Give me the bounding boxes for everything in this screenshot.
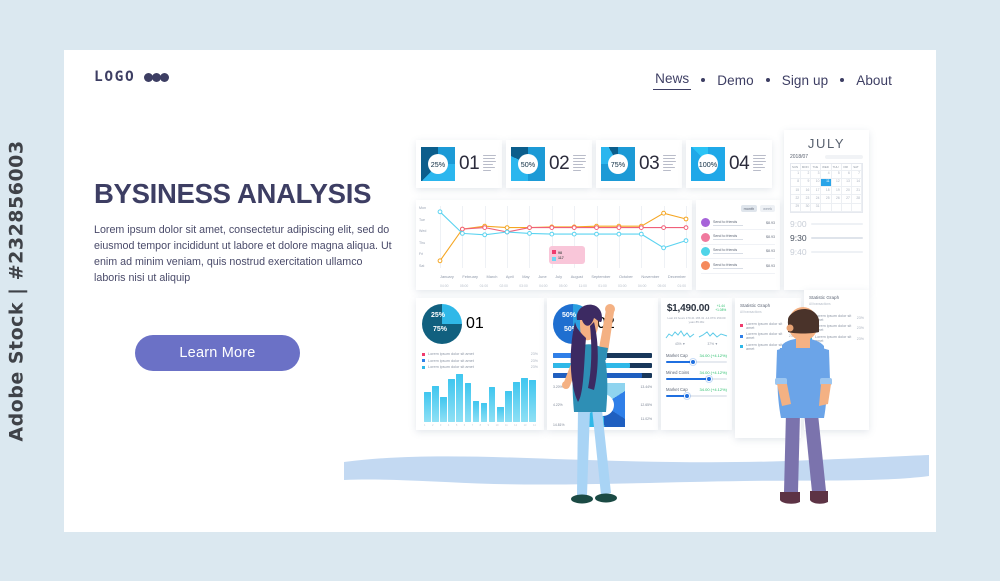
calendar-day[interactable]: 4: [821, 171, 831, 179]
calendar-day[interactable]: 1: [791, 171, 801, 179]
legend-value: 23%: [857, 337, 864, 341]
kpi-placeholder-text: [483, 155, 497, 173]
pie-slice-label: 25%: [431, 312, 445, 319]
calendar-day[interactable]: 31: [811, 204, 821, 212]
calendar-day[interactable]: 27: [842, 195, 852, 203]
kpi-number: 02: [549, 153, 569, 175]
list-item-text: Send to friends: [713, 220, 763, 226]
list-item-amount: $8.93: [766, 249, 775, 253]
tooltip-value-2: 117: [558, 256, 564, 260]
calendar-day[interactable]: 29: [791, 204, 801, 212]
bar: [465, 383, 472, 422]
x-tick: August: [571, 274, 583, 279]
x-subtick: 04:00: [638, 284, 647, 288]
donut-label: 13.44%: [641, 385, 653, 389]
bar: [448, 379, 455, 422]
line-chart-y-axis: Mon Tue Wed Thu Fri Sat: [419, 206, 439, 268]
calendar-day[interactable]: 8: [791, 179, 801, 187]
kpi-number: 03: [639, 153, 659, 175]
price-change-pct: +1.08%: [715, 308, 726, 312]
sparklines: 43% ▼ 37% ▼: [666, 329, 727, 346]
kpi-card-03[interactable]: 75% 03: [596, 140, 682, 188]
y-tick: Thu: [419, 241, 439, 245]
donut-label: 12.65%: [641, 403, 653, 407]
x-subtick: 01:00: [598, 284, 607, 288]
kpi-percent-label: 100%: [699, 160, 717, 169]
sparkline-2: 37% ▼: [699, 329, 728, 346]
slider-value: 34.00 (+4.12%): [700, 353, 727, 358]
x-tick: September: [591, 274, 610, 279]
x-subtick: 11:00: [579, 284, 587, 288]
bar-tick: 3: [440, 424, 441, 427]
calendar-day[interactable]: 24: [811, 195, 821, 203]
tab-week[interactable]: week: [760, 205, 775, 212]
bar-tick: 4: [448, 424, 449, 427]
x-tick: March: [487, 274, 498, 279]
bar: [440, 397, 447, 422]
bar: [505, 391, 512, 422]
agenda-row[interactable]: 9:30: [790, 233, 863, 243]
list-tabs: month week: [701, 205, 775, 212]
x-tick: April: [506, 274, 514, 279]
legend-label: Lorem ipsum dolor sit amet: [428, 352, 528, 356]
x-tick: November: [641, 274, 659, 279]
calendar-day[interactable]: 28: [852, 195, 862, 203]
person-woman: [544, 290, 634, 525]
logo[interactable]: LOGO: [94, 69, 169, 85]
price-change: +1.44 +1.08%: [715, 304, 726, 312]
list-item-text: Send to friends: [713, 263, 763, 269]
line-chart-card[interactable]: Mon Tue Wed Thu Fri Sat JanuaryFebruaryM…: [416, 200, 692, 290]
calendar-day[interactable]: [852, 204, 862, 212]
kpi-card-01[interactable]: 25% 01: [416, 140, 502, 188]
calendar-day[interactable]: 23: [801, 195, 811, 203]
list-item-text: Send to friends: [713, 248, 763, 254]
bar-chart: [424, 374, 536, 422]
hero-body-text: Lorem ipsum dolor sit amet, consectetur …: [94, 222, 394, 286]
bar: [529, 380, 536, 422]
bar-chart-axis: 1234567891011121314: [424, 424, 536, 427]
bar: [424, 392, 431, 422]
site-header: LOGO News Demo Sign up About: [64, 50, 936, 112]
donut-chart-100: 100%: [691, 147, 725, 181]
pie-slice-label: 75%: [433, 326, 447, 333]
calendar-agenda: 9:00 9:30 9:40: [790, 219, 863, 257]
slider-value: 34.00 (+4.12%): [700, 387, 727, 392]
avatar: [701, 247, 710, 256]
calendar-day[interactable]: [832, 204, 842, 212]
list-item-amount: $8.93: [766, 264, 775, 268]
list-item-title: Send to friends: [713, 220, 763, 224]
calendar-day[interactable]: 25: [821, 195, 831, 203]
calendar-day[interactable]: [821, 204, 831, 212]
nav-item-signup[interactable]: Sign up: [780, 72, 831, 89]
price-subtitle: Last 24 hours 170.41 165.31 -14.07% 150.…: [666, 316, 727, 324]
bar: [513, 382, 520, 422]
kpi-percent-label: 50%: [521, 160, 535, 169]
logo-dots-icon: [144, 73, 169, 82]
calendar-day[interactable]: 26: [832, 195, 842, 203]
line-chart-x-subaxis: 04:0005:0001:0002:0003:0004:0005:0011:00…: [440, 284, 686, 288]
main-nav: News Demo Sign up About: [653, 70, 894, 90]
x-tick: January: [440, 274, 454, 279]
sparkline-1: 43% ▼: [666, 329, 695, 346]
slider-label: Market Cap: [666, 387, 688, 392]
logo-text: LOGO: [94, 69, 135, 85]
calendar-day[interactable]: 9: [801, 179, 811, 187]
bar-tick: 14: [533, 424, 536, 427]
y-tick: Tue: [419, 218, 439, 222]
list-item[interactable]: Send to friends $8.93: [701, 216, 775, 230]
card-number: 01: [466, 315, 484, 333]
donut-chart-25: 25%: [421, 147, 455, 181]
calendar-day[interactable]: 21: [852, 187, 862, 195]
learn-more-button[interactable]: Learn More: [135, 335, 300, 371]
kpi-percent-label: 25%: [431, 160, 445, 169]
legend-value: 23%: [531, 365, 538, 369]
donut-chart-50: 50%: [511, 147, 545, 181]
stock-watermark: Adobe Stock | #232856003: [4, 0, 30, 581]
donut-label: 11.02%: [641, 417, 652, 421]
calendar-day[interactable]: [842, 204, 852, 212]
kpi-number: 01: [459, 153, 479, 175]
calendar-day[interactable]: 10: [811, 179, 821, 187]
pie-chart-25-75: 25% 75%: [422, 304, 462, 344]
x-subtick: 05:00: [658, 284, 667, 288]
x-subtick: 04:00: [440, 284, 449, 288]
calendar-day[interactable]: 19: [832, 187, 842, 195]
kpi-placeholder-text: [663, 155, 677, 173]
x-subtick: 01:00: [677, 284, 686, 288]
legend-value: 23%: [857, 316, 864, 320]
bar-tick: 12: [514, 424, 517, 427]
legend-item: Lorem ipsum dolor sit amet23%: [422, 352, 538, 356]
bar-tick: 9: [488, 424, 489, 427]
calendar-day[interactable]: 14: [852, 179, 862, 187]
price-header: $1,490.00 +1.44 +1.08% Last 24 hours 170…: [666, 303, 727, 324]
bar-tick: 8: [480, 424, 481, 427]
x-subtick: 05:00: [559, 284, 568, 288]
sparkline-label: 43% ▼: [666, 342, 695, 346]
bar-tick: 10: [496, 424, 499, 427]
nav-separator-dot-icon: [840, 78, 844, 82]
kpi-placeholder-text: [753, 155, 767, 173]
legend-label: Lorem ipsum dolor sit amet: [428, 365, 528, 369]
calendar-day[interactable]: 22: [791, 195, 801, 203]
calendar-day[interactable]: 6: [842, 171, 852, 179]
bar: [473, 401, 480, 422]
bar-tick: 6: [464, 424, 465, 427]
calendar-day[interactable]: 15: [791, 187, 801, 195]
legend-value: 23%: [531, 359, 538, 363]
price-card[interactable]: $1,490.00 +1.44 +1.08% Last 24 hours 170…: [661, 298, 732, 430]
calendar-date-code: 2018/07: [790, 154, 808, 160]
chart-tooltip: 98 117: [549, 246, 585, 264]
y-tick: Wed: [419, 229, 439, 233]
legend-value: 23%: [531, 352, 538, 356]
list-item[interactable]: Send to friends $8.93: [701, 245, 775, 259]
calendar-subheader: 2018/07: [790, 154, 863, 160]
y-tick: Fri: [419, 252, 439, 256]
bar-tick: 11: [505, 424, 508, 427]
calendar-month-title: JULY: [790, 136, 863, 151]
x-subtick: 05:00: [460, 284, 469, 288]
x-subtick: 02:00: [499, 284, 508, 288]
list-item[interactable]: Send to friends $8.93: [701, 230, 775, 244]
calendar-search-field[interactable]: [825, 155, 863, 159]
nav-separator-dot-icon: [766, 78, 770, 82]
list-item-title: Send to friends: [713, 248, 763, 252]
slider-label: Market Cap: [666, 353, 688, 358]
y-tick: Mon: [419, 206, 439, 210]
person-man: [764, 300, 844, 515]
agenda-row[interactable]: 9:00: [790, 219, 863, 229]
x-tick: February: [462, 274, 478, 279]
kpi-percent-label: 75%: [611, 160, 625, 169]
bar: [432, 386, 439, 422]
kpi-number: 04: [729, 153, 749, 175]
avatar: [701, 218, 710, 227]
calendar-day[interactable]: 16: [801, 187, 811, 195]
list-item-text: Send to friends: [713, 234, 763, 240]
line-chart-x-axis: JanuaryFebruaryMarchAprilMayJuneJulyAugu…: [440, 274, 686, 279]
list-item-title: Send to friends: [713, 234, 763, 238]
transactions-list-card[interactable]: month week Send to friends $8.93 Send to…: [696, 200, 780, 290]
slider-mined-coins[interactable]: Mined Coins34.00 (+4.12%): [666, 370, 727, 380]
page-title: BYSINESS ANALYSIS: [94, 180, 394, 209]
calendar-card[interactable]: JULY 2018/07 SUNMONTUEWEDTHUFRISAT123456…: [784, 130, 869, 290]
calendar-day[interactable]: 11: [821, 179, 831, 187]
slider-market-cap-1[interactable]: Market Cap34.00 (+4.12%): [666, 353, 727, 363]
x-tick: June: [538, 274, 546, 279]
bar-tick: 13: [524, 424, 527, 427]
bar: [497, 407, 504, 422]
agenda-time: 9:40: [790, 247, 807, 257]
pie-block: 25% 75% 01: [422, 304, 538, 344]
price-value: $1,490.00: [667, 303, 710, 314]
tooltip-values: 98 117: [558, 251, 564, 260]
agenda-time: 9:00: [790, 219, 807, 229]
nav-item-demo[interactable]: Demo: [715, 72, 755, 89]
legend-item: Lorem ipsum dolor sit amet23%: [422, 365, 538, 369]
agenda-row[interactable]: 9:40: [790, 247, 863, 257]
sparkline-label: 37% ▼: [699, 342, 728, 346]
y-tick: Sat: [419, 264, 439, 268]
list-item[interactable]: Send to friends $8.93: [701, 259, 775, 273]
bar-tick: 7: [472, 424, 473, 427]
kpi-card-02[interactable]: 50% 02: [506, 140, 592, 188]
tooltip-value-1: 98: [558, 251, 564, 255]
bar-tick: 1: [424, 424, 425, 427]
kpi-placeholder-text: [573, 155, 587, 173]
calendar-grid[interactable]: SUNMONTUEWEDTHUFRISAT1234567891011121314…: [790, 163, 863, 213]
kpi-card-04[interactable]: 100% 04: [686, 140, 772, 188]
legend-value: 23%: [857, 326, 864, 330]
x-subtick: 01:00: [480, 284, 489, 288]
nav-item-about[interactable]: About: [854, 72, 894, 89]
donut-chart-75: 75%: [601, 147, 635, 181]
avatar: [701, 233, 710, 242]
avatar: [701, 261, 710, 270]
calendar-day[interactable]: 5: [832, 171, 842, 179]
hero-text-block: BYSINESS ANALYSIS Lorem ipsum dolor sit …: [94, 180, 394, 286]
legend: Lorem ipsum dolor sit amet23% Lorem ipsu…: [422, 352, 538, 369]
slider-label: Mined Coins: [666, 370, 689, 375]
slider-market-cap-2[interactable]: Market Cap34.00 (+4.12%): [666, 387, 727, 397]
x-tick: July: [555, 274, 562, 279]
x-tick: October: [619, 274, 633, 279]
watermark-text: Adobe Stock | #232856003: [6, 140, 28, 441]
x-tick: December: [668, 274, 686, 279]
nav-separator-dot-icon: [701, 78, 705, 82]
calendar-day[interactable]: 2: [801, 171, 811, 179]
bar-tick: 5: [456, 424, 457, 427]
calendar-day[interactable]: 13: [842, 179, 852, 187]
legend-label: Lorem ipsum dolor sit amet: [428, 359, 528, 363]
x-subtick: 03:00: [519, 284, 528, 288]
nav-item-news[interactable]: News: [653, 70, 691, 90]
tab-month[interactable]: month: [741, 205, 758, 212]
calendar-day[interactable]: 12: [832, 179, 842, 187]
slider-value: 34.00 (+4.12%): [700, 370, 727, 375]
calendar-day[interactable]: 18: [821, 187, 831, 195]
landing-page: LOGO News Demo Sign up About BYSINESS AN…: [64, 50, 936, 532]
bar: [456, 374, 463, 422]
x-subtick: 03:00: [618, 284, 627, 288]
list-item-amount: $8.93: [766, 235, 775, 239]
calendar-day[interactable]: 3: [811, 171, 821, 179]
x-tick: May: [522, 274, 529, 279]
calendar-day[interactable]: 20: [842, 187, 852, 195]
list-item-title: Send to friends: [713, 263, 763, 267]
calendar-day[interactable]: 17: [811, 187, 821, 195]
agenda-time: 9:30: [790, 233, 807, 243]
bar: [489, 387, 496, 422]
analytics-card-01[interactable]: 25% 75% 01 Lorem ipsum dolor sit amet23%…: [416, 298, 544, 430]
legend-item: Lorem ipsum dolor sit amet23%: [422, 359, 538, 363]
calendar-day[interactable]: 30: [801, 204, 811, 212]
bar: [481, 403, 488, 422]
list-item-amount: $8.93: [766, 221, 775, 225]
bar-tick: 2: [432, 424, 433, 427]
bar: [521, 378, 528, 422]
x-subtick: 04:00: [539, 284, 548, 288]
calendar-day[interactable]: 7: [852, 171, 862, 179]
tooltip-swatches-icon: [552, 250, 556, 261]
